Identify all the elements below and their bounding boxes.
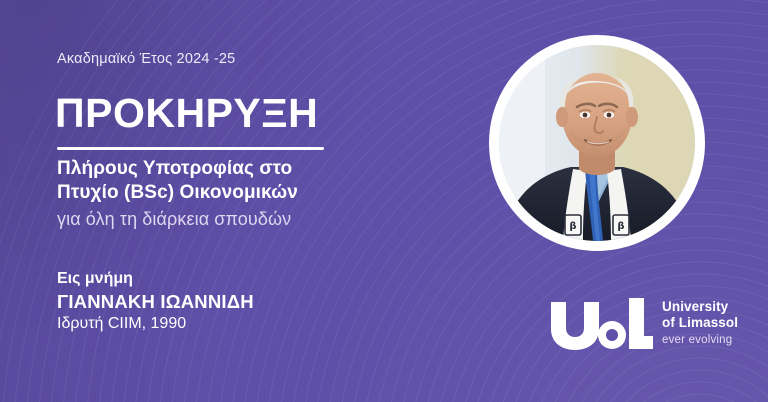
memorial-person-role: Ιδρυτή CIIM, 1990: [57, 314, 457, 335]
logo-university-line-1: University: [662, 299, 738, 314]
svg-text:β: β: [617, 221, 624, 232]
memorial-block: Εις μνήμη ΓΙΑΝΝΑΚΗ ΙΩΑΝΝΙΔΗ Ιδρυτή CIIM,…: [57, 269, 457, 335]
university-logo[interactable]: University of Limassol ever evolving: [549, 296, 738, 352]
logo-tagline: ever evolving: [662, 333, 738, 348]
uol-wordmark-icon: [549, 296, 653, 352]
logo-university-line-2: of Limassol: [662, 315, 738, 330]
page-title: ΠΡΟΚΗΡΥΞΗ: [55, 93, 318, 134]
scholarship-announcement-banner: Ακαδημαϊκό Έτος 2024 -25 ΠΡΟΚΗΡΥΞΗ Πλήρο…: [0, 0, 768, 402]
portrait-ring: β β: [489, 35, 705, 251]
memorial-lead-label: Εις μνήμη: [57, 269, 457, 290]
academic-year-label: Ακαδημαϊκό Έτος 2024 -25: [57, 51, 235, 67]
subtitle-block: Πλήρους Υποτροφίας στο Πτυχίο (BSc) Οικο…: [57, 157, 457, 231]
subtitle-line-2: Πτυχίο (BSc) Οικονομικών: [57, 181, 457, 205]
portrait-photo: β β: [499, 45, 695, 241]
subtitle-note: για όλη τη διάρκεια σπουδών: [57, 208, 457, 231]
subtitle-line-1: Πλήρους Υποτροφίας στο: [57, 157, 457, 181]
memorial-person-name: ΓΙΑΝΝΑΚΗ ΙΩΑΝΝΙΔΗ: [57, 290, 457, 314]
logo-text-block: University of Limassol ever evolving: [662, 299, 738, 352]
title-divider-rule: [57, 147, 324, 150]
announcement-text-column: Ακαδημαϊκό Έτος 2024 -25 ΠΡΟΚΗΡΥΞΗ Πλήρο…: [57, 0, 457, 402]
svg-text:β: β: [569, 221, 576, 232]
